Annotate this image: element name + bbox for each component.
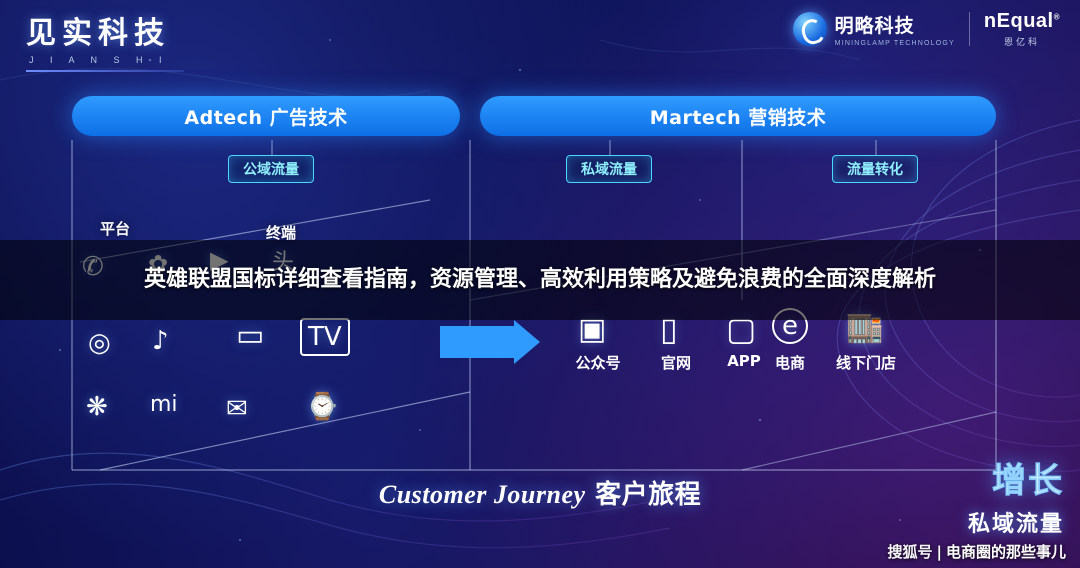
jianshi-logo-cn: 见实科技 [26, 8, 184, 52]
private-traffic-tag[interactable]: 私域流量 [566, 155, 652, 183]
caption-overlay: 英雄联盟国标详细查看指南，资源管理、高效利用策略及避免浪费的全面深度解析 [0, 240, 1080, 320]
blue-arrow-icon [440, 320, 540, 384]
growth-badge: 增长 私域流量 [968, 453, 1064, 538]
laptop-icon: ▭ [236, 318, 264, 353]
slide-canvas: 见实科技 J I A N S H I 明略科技 MININGLAMP TECHN… [0, 0, 1080, 568]
watermark-platform: 搜狐号 [887, 541, 932, 562]
mininglamp-logo: 明略科技 MININGLAMP TECHNOLOGY [793, 11, 955, 47]
jianshi-logo: 见实科技 J I A N S H I [26, 8, 184, 72]
jianshi-logo-en: J I A N S H I [26, 55, 184, 65]
ecommerce-channel-label: 电商 [766, 352, 814, 373]
nequal-logo-en: nEqual [984, 10, 1054, 32]
partner-logos: 明略科技 MININGLAMP TECHNOLOGY nEqual® 恩亿科 [793, 10, 1060, 48]
watermark-account: 电商圈的那些事儿 [946, 541, 1066, 562]
nequal-logo-cn: 恩亿科 [984, 35, 1060, 48]
tv-icon: TV [300, 318, 350, 356]
nequal-logo: nEqual® 恩亿科 [984, 10, 1060, 48]
jianshi-logo-underline [26, 70, 184, 72]
public-traffic-tag[interactable]: 公域流量 [228, 155, 314, 183]
baidu-paw-icon: ❋ [86, 392, 108, 422]
logo-divider [969, 12, 970, 46]
offline-store-channel-label: 线下门店 [818, 352, 914, 373]
customer-journey-cn: 客户旅程 [595, 480, 701, 510]
watermark-separator: | [937, 543, 942, 561]
whale-logo-icon [793, 12, 827, 46]
official-account-channel-label: 公众号 [562, 352, 634, 373]
adtech-pill[interactable]: Adtech 广告技术 [72, 96, 460, 136]
martech-pill[interactable]: Martech 营销技术 [480, 96, 996, 136]
mininglamp-logo-en: MININGLAMP TECHNOLOGY [835, 40, 955, 47]
watermark: 搜狐号 | 电商圈的那些事儿 [887, 541, 1066, 562]
customer-journey-title: Customer Journey 客户旅程 [379, 474, 701, 511]
customer-journey-en: Customer Journey [379, 480, 586, 509]
growth-title: 增长 [968, 453, 1064, 502]
xiaomi-icon: mi [150, 392, 178, 417]
caption-text: 英雄联盟国标详细查看指南，资源管理、高效利用策略及避免浪费的全面深度解析 [144, 264, 936, 296]
mail-icon: ✉ [226, 394, 248, 424]
traffic-conversion-tag[interactable]: 流量转化 [832, 155, 918, 183]
target-icon: ◎ [88, 328, 111, 358]
douyin-icon: ♪ [152, 326, 169, 356]
platform-label: 平台 [100, 218, 130, 239]
mininglamp-logo-cn: 明略科技 [835, 11, 955, 38]
website-channel-label: 官网 [644, 352, 708, 373]
watch-icon: ⌚ [306, 392, 338, 422]
growth-subtitle: 私域流量 [968, 506, 1064, 538]
